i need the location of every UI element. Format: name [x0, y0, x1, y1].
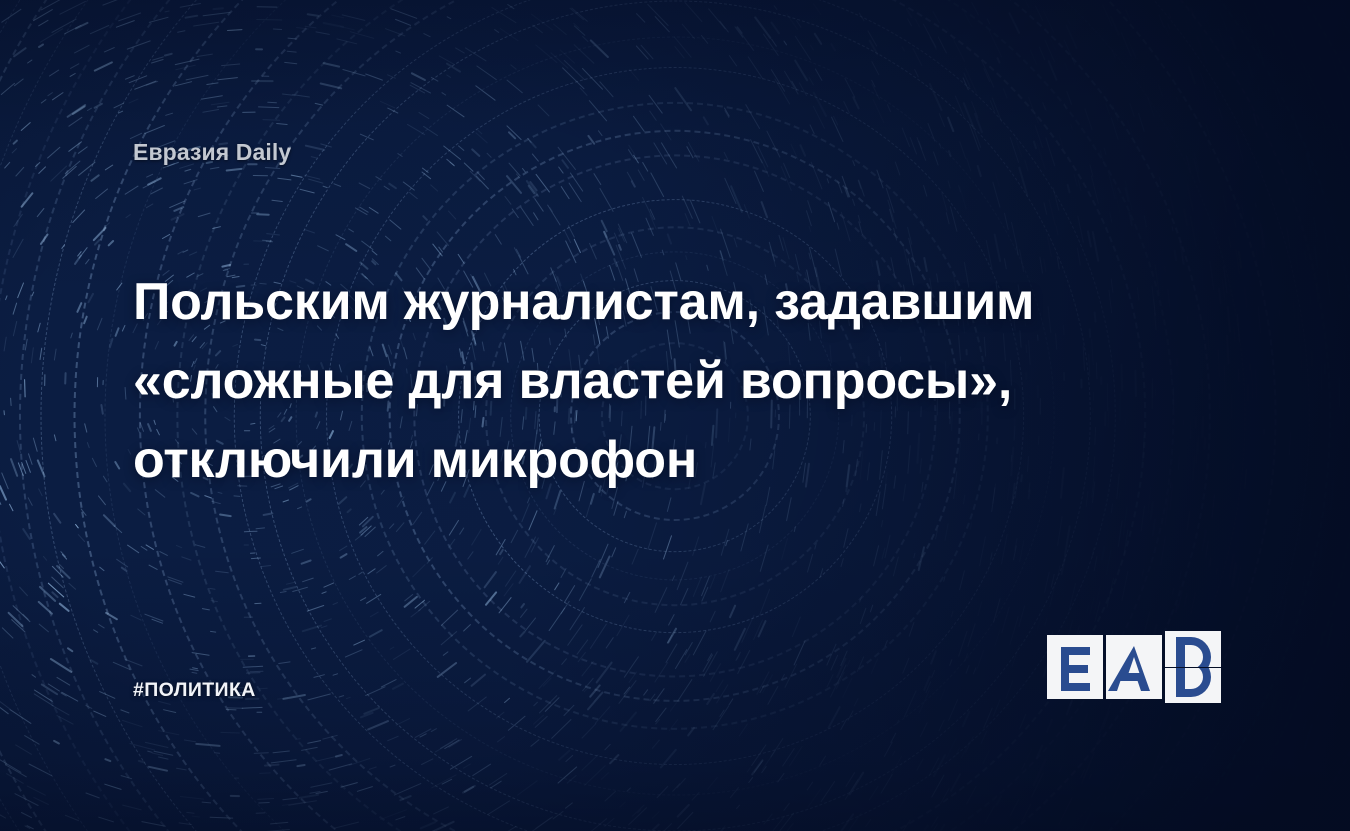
- logo-tile-d: [1165, 631, 1221, 703]
- brand-title: Евразия Daily: [133, 139, 291, 166]
- headline-line-3: отключили микрофон: [133, 421, 1133, 500]
- ead-logo-icon: [1047, 631, 1221, 703]
- page-title: Польским журналистам, задавшим «сложные …: [133, 263, 1133, 500]
- logo-tile-e: [1047, 635, 1103, 699]
- ead-logo[interactable]: [1047, 631, 1221, 703]
- logo-tile-a: [1106, 635, 1162, 699]
- headline-line-1: Польским журналистам, задавшим: [133, 263, 1133, 342]
- headline-line-2: «сложные для властей вопросы»,: [133, 342, 1133, 421]
- category-tag[interactable]: #ПОЛИТИКА: [133, 679, 256, 702]
- news-share-card: Евразия Daily Польским журналистам, зада…: [0, 0, 1350, 831]
